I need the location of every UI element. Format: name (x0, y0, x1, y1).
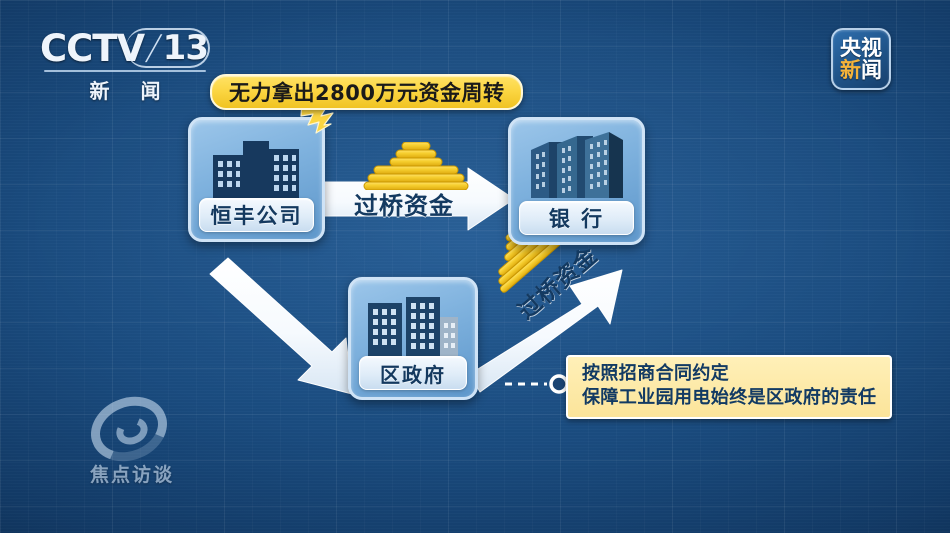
node-bank[interactable]: 银 行 (508, 117, 645, 245)
cctv-underline-decoration (44, 70, 206, 72)
broadcast-graphic-stage: CCTV / 13 新 闻 央视 新闻 焦点访谈 无力拿出2800万元资金周转 … (0, 0, 950, 533)
caption-line-1: 按照招商合同约定 (582, 362, 876, 386)
callout-banner: 无力拿出2800万元资金周转 (210, 74, 523, 110)
node-government[interactable]: 区政府 (348, 277, 478, 400)
cctv-news-badge-rest: 闻 (861, 58, 882, 82)
office-buildings-icon (191, 128, 322, 199)
government-buildings-icon (351, 288, 475, 357)
arrow-company-to-government (206, 258, 366, 398)
node-company[interactable]: 恒丰公司 (188, 117, 325, 242)
cctv-news-badge-line2: 新闻 (840, 59, 882, 81)
gold-coin-stack-icon (362, 142, 470, 190)
caption-line-2: 保障工业园用电始终是区政府的责任 (582, 386, 876, 410)
focus-interview-title: 焦点访谈 (72, 460, 192, 487)
cctv-subtitle: 新 闻 (40, 75, 210, 104)
cctv-news-badge-highlight: 新 (840, 58, 861, 82)
cctv-news-badge-line1: 央视 (840, 37, 882, 59)
node-bank-label: 银 行 (519, 201, 634, 235)
caption-connector-icon (505, 372, 575, 396)
cctv-news-badge: 央视 新闻 (831, 28, 891, 90)
flow-label-company-to-bank: 过桥资金 (354, 186, 454, 221)
node-government-label: 区政府 (359, 356, 467, 390)
bank-towers-icon (511, 128, 642, 202)
node-company-label: 恒丰公司 (199, 198, 314, 232)
caption-box: 按照招商合同约定 保障工业园用电始终是区政府的责任 (566, 355, 892, 419)
cctv-13-logo: CCTV / 13 新 闻 (40, 26, 210, 96)
focus-interview-watermark: 焦点访谈 (72, 398, 192, 490)
cctv-ring-decoration (126, 28, 210, 68)
